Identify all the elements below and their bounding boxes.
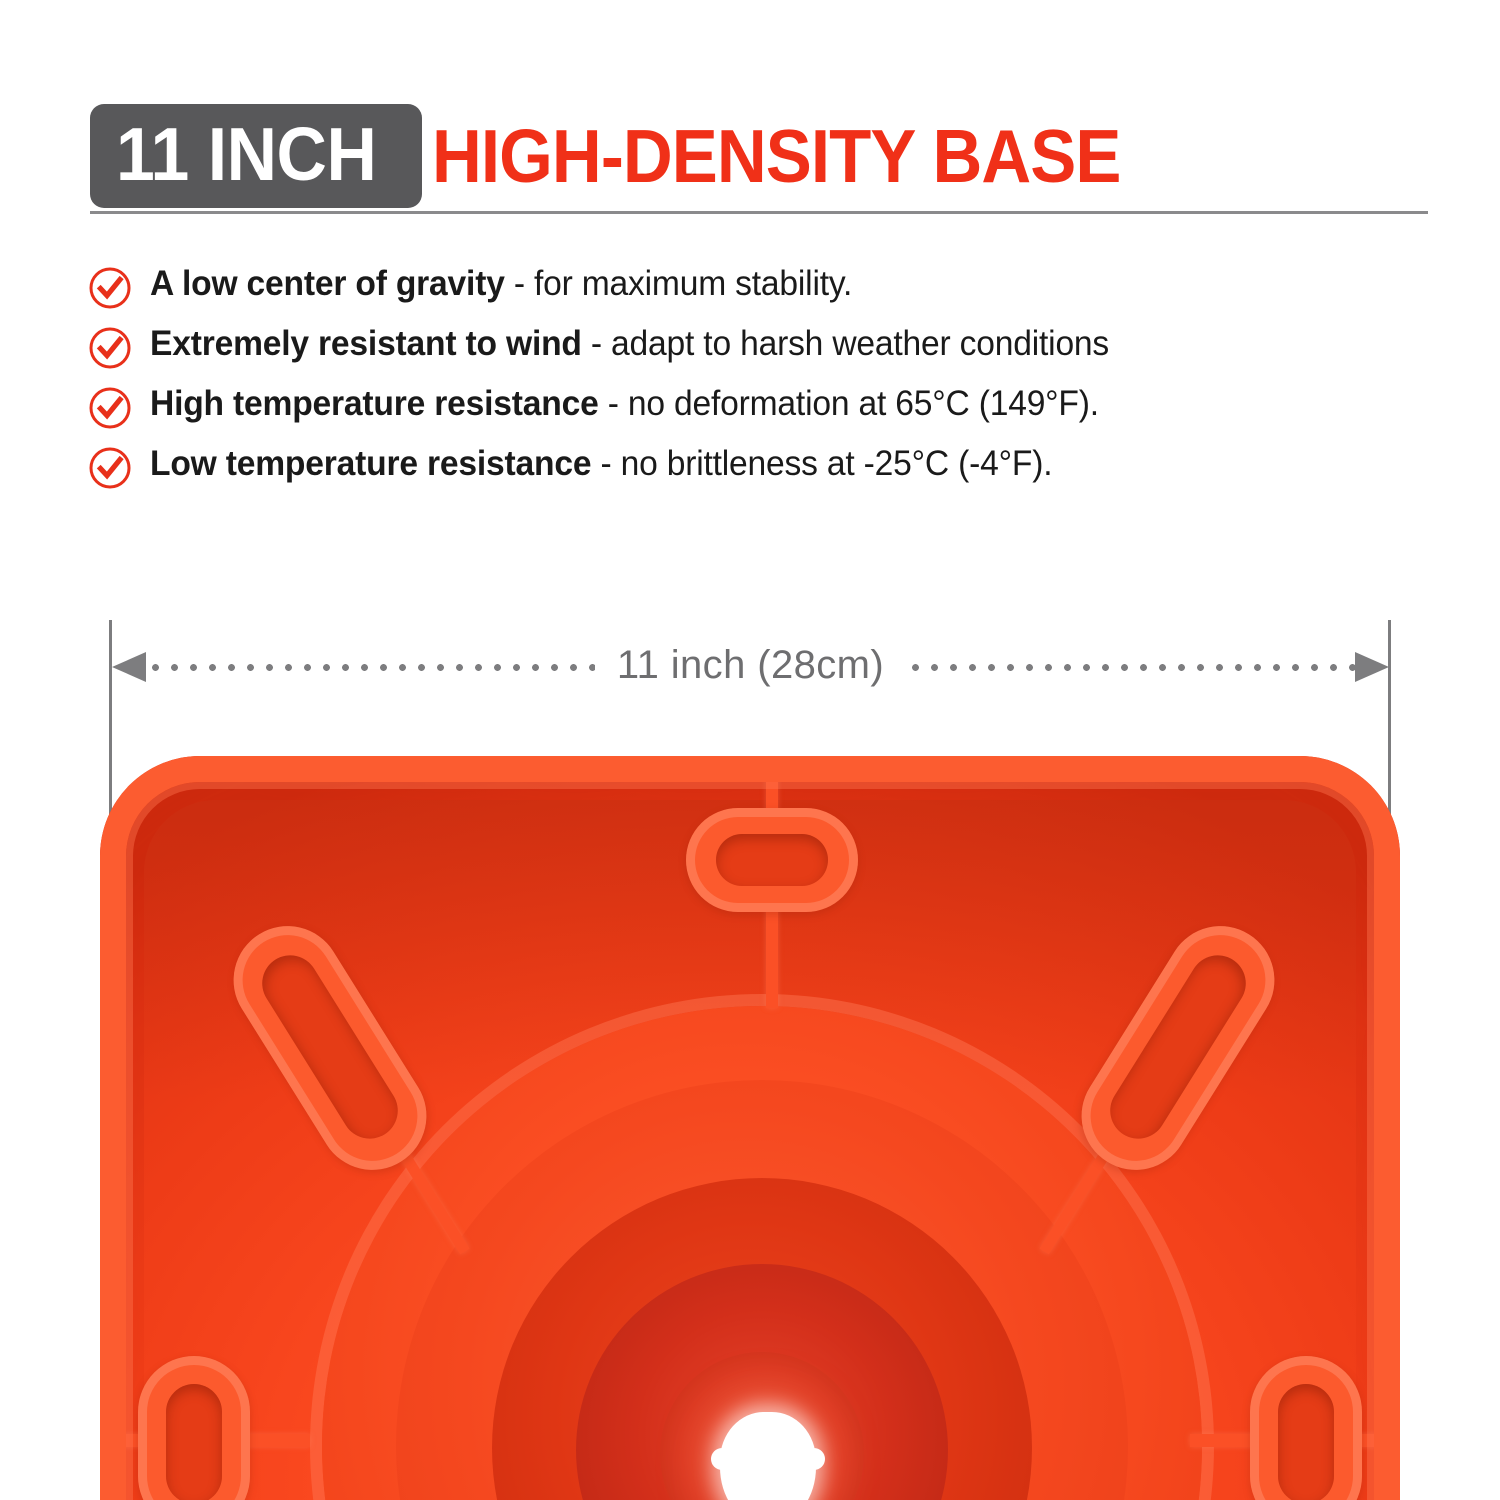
circle-check-icon [88,266,132,310]
feature-rest: - no deformation at 65°C (149°F). [599,384,1099,423]
title-main-label: HIGH-DENSITY BASE [432,119,1121,194]
arrow-left-icon [112,652,146,682]
feature-item: Extremely resistant to wind - adapt to h… [88,322,1428,382]
circle-check-icon [88,326,132,370]
header-divider [90,211,1428,214]
feature-lead: Extremely resistant to wind [150,324,582,363]
dimension-arrow-track: 11 inch (28cm) [112,652,1389,682]
feature-rest: - for maximum stability. [505,264,852,303]
feature-text: High temperature resistance - no deforma… [150,382,1099,426]
dimension-dotted-line-left [146,664,595,671]
feature-text: Extremely resistant to wind - adapt to h… [150,322,1109,366]
feature-item: Low temperature resistance - no brittlen… [88,442,1428,502]
circle-check-icon [88,446,132,490]
feature-text: A low center of gravity - for maximum st… [150,262,852,306]
circle-check-icon [88,386,132,430]
feature-lead: High temperature resistance [150,384,599,423]
title-main: HIGH-DENSITY BASE [422,104,1180,208]
dimension-dotted-line-right [906,664,1355,671]
feature-lead: Low temperature resistance [150,444,591,483]
feature-rest: - no brittleness at -25°C (-4°F). [591,444,1052,483]
arrow-right-icon [1355,652,1389,682]
feature-text: Low temperature resistance - no brittlen… [150,442,1052,486]
feature-item: High temperature resistance - no deforma… [88,382,1428,442]
page-title: 11 INCH HIGH-DENSITY BASE [90,104,1180,208]
cone-outer-lip [100,756,1400,1500]
size-badge-label: 11 INCH [116,117,376,192]
feature-item: A low center of gravity - for maximum st… [88,262,1428,322]
size-badge: 11 INCH [90,104,422,208]
dimension-label: 11 inch (28cm) [595,643,906,688]
product-image [100,748,1400,1500]
header-banner: 11 INCH HIGH-DENSITY BASE [0,0,1500,225]
feature-list: A low center of gravity - for maximum st… [88,262,1428,502]
feature-lead: A low center of gravity [150,264,505,303]
feature-rest: - adapt to harsh weather conditions [582,324,1109,363]
